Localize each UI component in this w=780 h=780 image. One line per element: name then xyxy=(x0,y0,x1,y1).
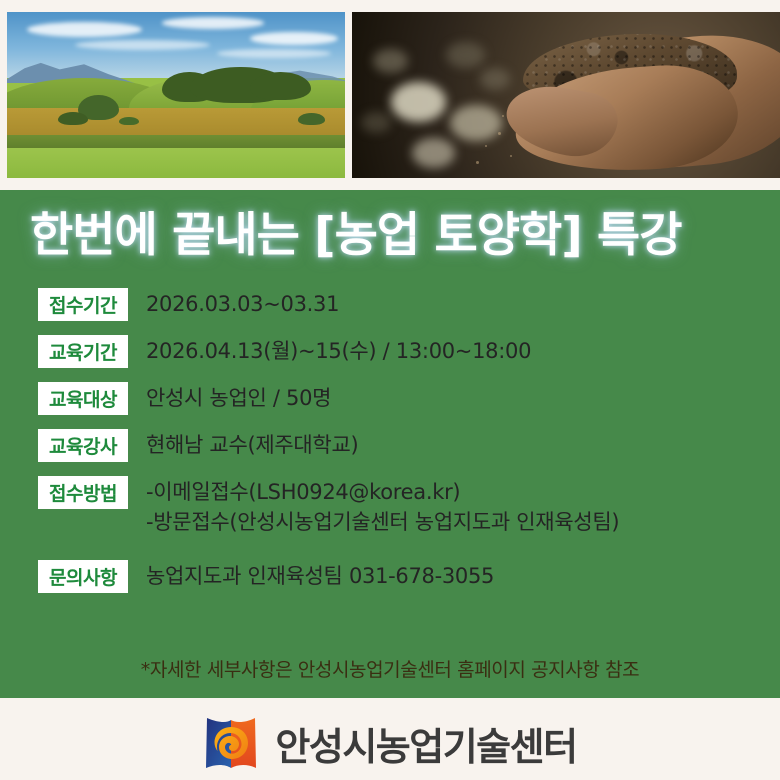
detail-rows: 접수기간 2026.03.03~03.31 교육기간 2026.04.13(월)… xyxy=(38,288,758,607)
footnote: *자세한 세부사항은 안성시농업기술센터 홈페이지 공지사항 참조 xyxy=(0,655,780,682)
bokeh-light xyxy=(412,138,455,168)
detail-row: 교육강사 현해남 교수(제주대학교) xyxy=(38,429,758,462)
soil-hands-illustration xyxy=(352,12,780,178)
ansung-agricultural-center-logo-icon xyxy=(203,714,259,772)
row-label-registration-period: 접수기간 xyxy=(38,288,128,321)
detail-row: 접수기간 2026.03.03~03.31 xyxy=(38,288,758,321)
bokeh-light xyxy=(480,68,510,90)
row-value: 농업지도과 인재육성팀 031-678-3055 xyxy=(146,562,494,592)
poster-root: 한번에 끝내는 [농업 토양학] 특강 접수기간 2026.03.03~03.3… xyxy=(0,0,780,780)
row-value: 2026.04.13(월)~15(수) / 13:00~18:00 xyxy=(146,337,531,367)
row-values: 농업지도과 인재육성팀 031-678-3055 xyxy=(146,560,494,592)
row-label-instructor: 교육강사 xyxy=(38,429,128,462)
row-values: -이메일접수(LSH0924@korea.kr) -방문접수(안성시농업기술센터… xyxy=(146,476,619,538)
row-label-target-audience: 교육대상 xyxy=(38,382,128,415)
detail-row: 교육대상 안성시 농업인 / 50명 xyxy=(38,382,758,415)
row-label-inquiries: 문의사항 xyxy=(38,560,128,593)
page-title: 한번에 끝내는 [농업 토양학] 특강 xyxy=(30,196,760,265)
tree xyxy=(250,72,311,100)
bush xyxy=(119,117,139,125)
row-value: 현해남 교수(제주대학교) xyxy=(146,431,358,461)
row-values: 2026.03.03~03.31 xyxy=(146,288,339,320)
bokeh-light xyxy=(373,49,407,74)
bokeh-light xyxy=(446,42,485,69)
row-label-course-period: 교육기간 xyxy=(38,335,128,368)
bokeh-light xyxy=(391,82,447,122)
bush xyxy=(58,112,88,125)
bush xyxy=(298,113,325,125)
logo-text: 안성시농업기술센터 xyxy=(275,716,576,771)
row-value: -방문접수(안성시농업기술센터 농업지도과 인재육성팀) xyxy=(146,508,619,538)
bokeh-light xyxy=(361,112,391,134)
falling-soil-particle xyxy=(498,132,501,135)
row-value: 안성시 농업인 / 50명 xyxy=(146,384,331,414)
falling-soil-particle xyxy=(510,155,512,157)
photo-strip xyxy=(0,0,780,190)
soil-hands-photo xyxy=(352,12,780,178)
field-band xyxy=(7,108,345,138)
detail-row: 접수방법 -이메일접수(LSH0924@korea.kr) -방문접수(안성시농… xyxy=(38,476,758,538)
farmland-illustration xyxy=(7,12,345,178)
bokeh-light xyxy=(450,105,501,142)
cloud xyxy=(27,22,142,37)
row-values: 2026.04.13(월)~15(수) / 13:00~18:00 xyxy=(146,335,531,367)
row-values: 안성시 농업인 / 50명 xyxy=(146,382,331,414)
detail-row: 교육기간 2026.04.13(월)~15(수) / 13:00~18:00 xyxy=(38,335,758,368)
farmland-photo xyxy=(7,12,345,178)
row-values: 현해남 교수(제주대학교) xyxy=(146,429,358,461)
row-value: -이메일접수(LSH0924@korea.kr) xyxy=(146,478,619,508)
cloud xyxy=(162,17,263,29)
field-band xyxy=(7,148,345,178)
organization-logo: 안성시농업기술센터 xyxy=(0,706,780,780)
falling-soil-particle xyxy=(476,161,479,164)
row-label-registration-method: 접수방법 xyxy=(38,476,128,509)
row-value: 2026.03.03~03.31 xyxy=(146,290,339,320)
falling-soil-particle xyxy=(485,145,487,147)
falling-soil-particle xyxy=(502,115,504,117)
detail-row: 문의사항 농업지도과 인재육성팀 031-678-3055 xyxy=(38,560,758,593)
